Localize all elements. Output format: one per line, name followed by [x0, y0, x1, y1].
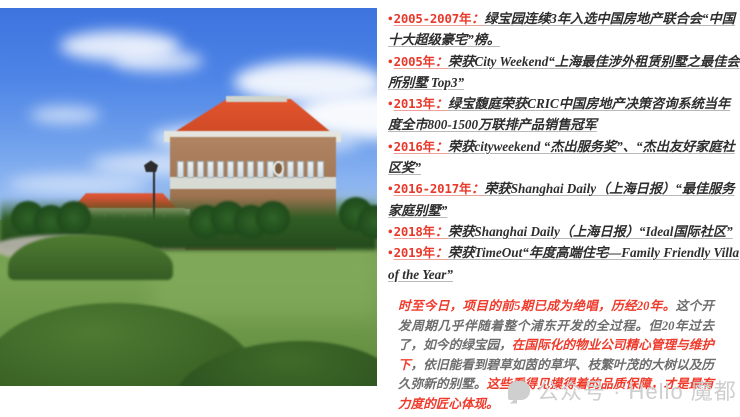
award-separator: ： — [435, 54, 448, 69]
roof-ridge — [226, 96, 286, 102]
award-item: •2016年：荣获cityweekend “杰出服务奖”、“杰出友好家庭社区奖” — [388, 136, 740, 179]
window — [307, 161, 314, 178]
award-year: 2016年 — [394, 139, 435, 154]
award-item: •2019年：荣获TimeOut“年度高端住宅—Family Friendly … — [388, 242, 740, 285]
text-panel: •2005-2007年：绿宝园连续3年入选中国房地产联合会“中国十大超级豪宅”榜… — [388, 0, 740, 417]
window — [287, 161, 294, 178]
award-separator: ： — [471, 181, 484, 196]
awards-list: •2005-2007年：绿宝园连续3年入选中国房地产联合会“中国十大超级豪宅”榜… — [388, 8, 740, 285]
speech-bubble-icon — [508, 381, 530, 400]
property-photo — [0, 8, 377, 386]
award-item: •2018年：荣获Shanghai Daily（上海日报）“Ideal国际社区” — [388, 221, 740, 242]
window — [197, 161, 204, 178]
award-text: 荣获Shanghai Daily（上海日报）“Ideal国际社区” — [448, 224, 733, 239]
bullet-icon: • — [388, 181, 393, 196]
window — [257, 161, 264, 178]
award-year: 2016-2017年 — [394, 181, 472, 196]
palm-tree — [256, 201, 290, 235]
award-separator: ： — [435, 139, 448, 154]
award-item: •2005年：荣获City Weekend“上海最佳涉外租赁别墅之最佳会所别墅 … — [388, 51, 740, 94]
award-year: 2013年 — [394, 96, 435, 111]
slide-canvas: •2005-2007年：绿宝园连续3年入选中国房地产联合会“中国十大超级豪宅”榜… — [0, 0, 740, 417]
bullet-icon: • — [388, 96, 393, 111]
award-separator: ： — [471, 11, 484, 26]
bullet-icon: • — [388, 54, 393, 69]
window — [247, 161, 254, 178]
window — [177, 161, 184, 178]
palm-tree — [57, 201, 91, 235]
award-item: •2016-2017年：荣获Shanghai Daily（上海日报）“最佳服务家… — [388, 178, 740, 221]
award-year: 2019年 — [394, 245, 435, 260]
award-separator: ： — [435, 224, 448, 239]
window — [317, 161, 324, 178]
bullet-icon: • — [388, 224, 393, 239]
cloud — [113, 50, 203, 72]
award-year: 2005年 — [394, 54, 435, 69]
window — [297, 161, 304, 178]
watermark: 公众号 · Hello 魔都 — [508, 374, 737, 406]
window — [217, 161, 224, 178]
window — [187, 161, 194, 178]
bullet-icon: • — [388, 139, 393, 154]
award-separator: ： — [435, 245, 448, 260]
bullet-icon: • — [388, 245, 393, 260]
award-item: •2005-2007年：绿宝园连续3年入选中国房地产联合会“中国十大超级豪宅”榜… — [388, 8, 740, 51]
paragraph-segment-red-1: 时至今日，项目的前5期已成为绝唱，历经20年。 — [398, 299, 676, 313]
bullet-icon: • — [388, 11, 393, 26]
watermark-text: 公众号 · Hello 魔都 — [537, 374, 737, 406]
award-item: •2013年：绿宝馥庭荣获CRIC中国房地产决策咨询系统当年度全市800-150… — [388, 93, 740, 136]
award-year: 2005-2007年 — [394, 11, 472, 26]
award-year: 2018年 — [394, 224, 435, 239]
window — [227, 161, 234, 178]
award-separator: ： — [435, 96, 448, 111]
window-row-upper — [177, 161, 324, 178]
window — [207, 161, 214, 178]
window — [237, 161, 244, 178]
building-string-course — [170, 177, 336, 189]
